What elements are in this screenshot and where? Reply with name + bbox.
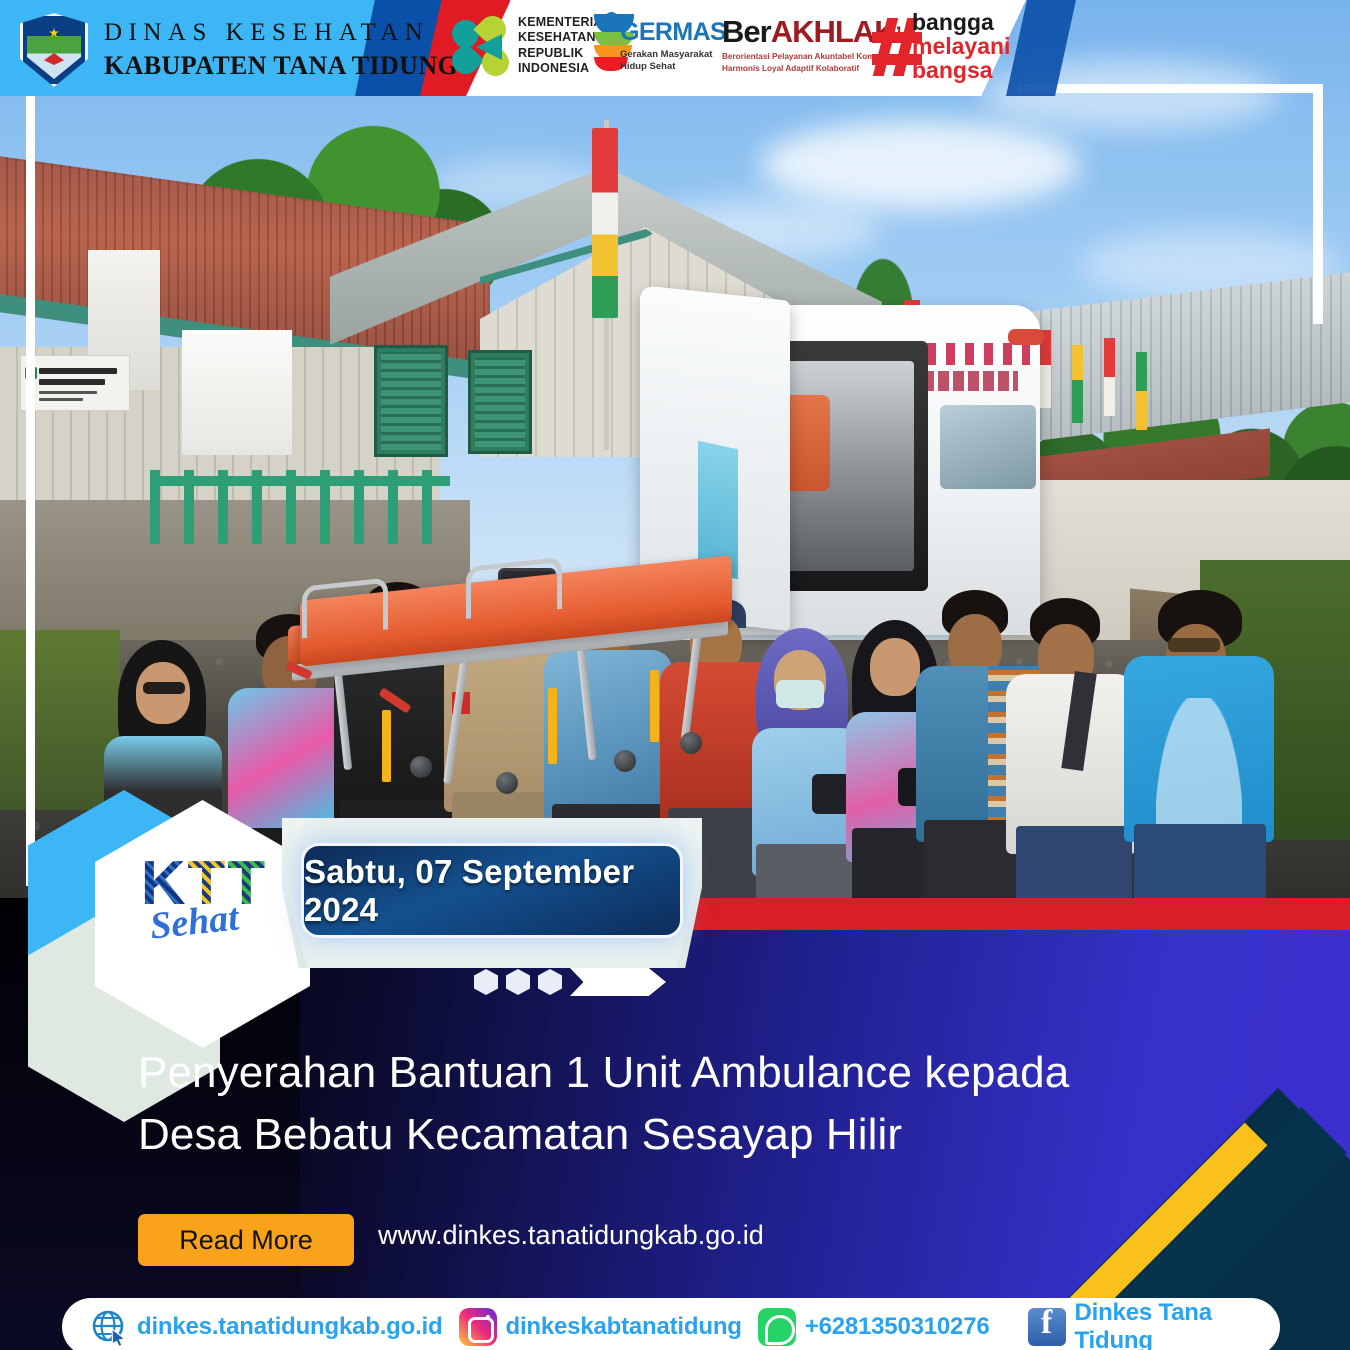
event-photo — [0, 0, 1350, 920]
title-line-2: Desa Bebatu Kecamatan Sesayap Hilir — [138, 1104, 1158, 1166]
grass-patch — [0, 630, 120, 810]
footer-item-website[interactable]: dinkes.tanatidungkab.go.id — [90, 1308, 443, 1346]
sign-text-line — [39, 391, 97, 394]
photo-frame-line — [1313, 84, 1323, 324]
photo-frame-line — [26, 96, 35, 886]
kemenkes-clover-icon — [452, 16, 514, 78]
germas-wordmark: GERMAS Gerakan MasyarakatHidup Sehat — [620, 18, 726, 74]
green-window — [468, 350, 532, 454]
white-sheet — [182, 330, 292, 455]
ambulance-window — [940, 405, 1036, 489]
website-url[interactable]: www.dinkes.tanatidungkab.go.id — [378, 1220, 764, 1251]
ambulance-beacon — [1008, 329, 1044, 345]
footer-item-instagram[interactable]: dinkeskabtanatidung — [459, 1308, 742, 1346]
bangga-line3: bangsa — [912, 57, 993, 83]
stretcher-siderail — [466, 557, 562, 619]
ktt-sehat-subtitle: Sehat — [148, 895, 241, 948]
bangga-line1: bangga — [912, 9, 994, 35]
footer-whatsapp-label: +6281350310276 — [805, 1313, 990, 1341]
footer-website-label: dinkes.tanatidungkab.go.id — [137, 1313, 443, 1341]
org-name-line2: KABUPATEN TANA TIDUNG — [104, 51, 458, 81]
posyandu-sign — [20, 355, 130, 411]
header-bar: DINAS KESEHATAN KABUPATEN TANA TIDUNG KE… — [0, 0, 1350, 96]
chevron-bar-icon — [570, 968, 666, 996]
event-date: Sabtu, 07 September 2024 — [304, 853, 680, 929]
whatsapp-icon — [758, 1308, 796, 1346]
bunting-flag — [1072, 345, 1083, 423]
read-more-button[interactable]: Read More — [138, 1214, 354, 1266]
footer-item-facebook[interactable]: Dinkes Tana Tidung — [1028, 1299, 1281, 1350]
sign-text-line — [39, 398, 83, 401]
org-name-line1: DINAS KESEHATAN — [104, 19, 429, 47]
poster-root: DINAS KESEHATAN KABUPATEN TANA TIDUNG KE… — [0, 0, 1350, 1350]
footer-item-whatsapp[interactable]: +6281350310276 — [758, 1308, 990, 1346]
sign-text-line — [39, 379, 105, 385]
germas-tagline: Gerakan MasyarakatHidup Sehat — [620, 49, 726, 74]
indonesian-flag — [592, 128, 618, 318]
chevron-hex-icon — [474, 969, 498, 995]
instagram-icon — [459, 1308, 497, 1346]
chevron-decoration — [474, 968, 666, 996]
footer-instagram-label: dinkeskabtanatidung — [506, 1313, 742, 1341]
chevron-hex-icon — [506, 969, 530, 995]
bangga-line2: melayani — [912, 33, 1010, 59]
sign-text-line — [39, 368, 117, 374]
green-window — [374, 345, 448, 457]
coat-of-arms-icon — [20, 13, 88, 87]
bangga-melayani-bangsa-wordmark: bangga melayani bangsa — [912, 10, 1010, 82]
bunting-flag — [1136, 352, 1147, 430]
title-line-1: Penyerahan Bantuan 1 Unit Ambulance kepa… — [138, 1042, 1158, 1104]
chevron-hex-icon — [538, 969, 562, 995]
social-footer-bar: dinkes.tanatidungkab.go.id dinkeskabtana… — [62, 1298, 1280, 1350]
page-title: Penyerahan Bantuan 1 Unit Ambulance kepa… — [138, 1042, 1158, 1167]
globe-cursor-icon — [90, 1308, 128, 1346]
facebook-icon — [1028, 1308, 1066, 1346]
footer-facebook-label: Dinkes Tana Tidung — [1075, 1299, 1281, 1350]
green-railing — [150, 470, 450, 544]
date-badge: Sabtu, 07 September 2024 — [301, 843, 683, 938]
ambulance-stretcher — [282, 560, 752, 800]
germas-name: GERMAS — [620, 18, 726, 47]
stretcher-siderail — [302, 577, 388, 638]
bunting-flag — [1104, 338, 1115, 416]
